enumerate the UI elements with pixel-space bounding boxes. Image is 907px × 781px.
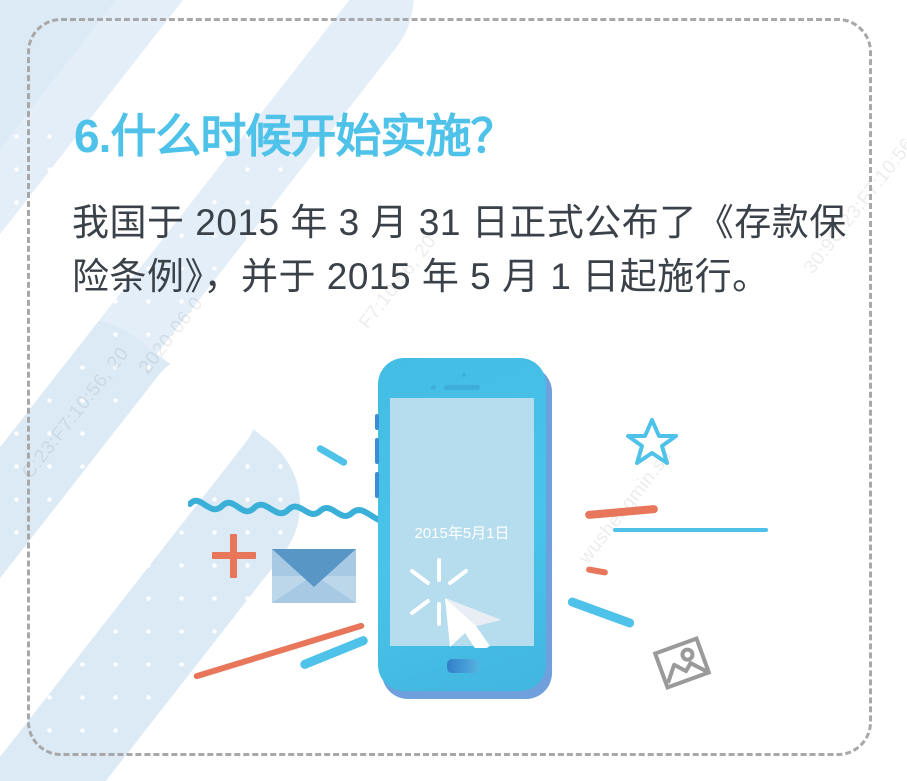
envelope-flap — [272, 549, 356, 587]
phone-volume-down-button — [375, 472, 379, 498]
phone-sensor-dot-icon — [462, 373, 466, 377]
photo-image-icon — [650, 632, 714, 694]
smartphone-illustration: 2015年5月1日 — [378, 358, 548, 695]
blue-horizontal-line — [613, 528, 768, 532]
envelope-icon — [272, 549, 356, 603]
cursor-click-group — [408, 558, 518, 648]
phone-speaker-icon — [444, 385, 480, 390]
screen-date-label: 2015年5月1日 — [390, 522, 534, 543]
phone-camera-icon — [431, 385, 436, 390]
phone-screen: 2015年5月1日 — [390, 398, 534, 646]
wavy-line-icon — [188, 492, 388, 532]
phone-side-button — [375, 414, 379, 430]
infographic-page: C:23:F7:10:56, 20 2020-06-0 wushengmin.s… — [0, 0, 907, 781]
phone-home-button — [447, 659, 479, 673]
star-outline-icon — [625, 416, 679, 468]
body-paragraph: 我国于 2015 年 3 月 31 日正式公布了《存款保险条例》，并于 2015… — [72, 196, 862, 304]
phone-body: 2015年5月1日 — [378, 358, 546, 691]
page-title: 6.什么时候开始实施？ — [74, 100, 515, 166]
plus-mark-vertical — [230, 534, 237, 578]
phone-volume-up-button — [375, 438, 379, 464]
